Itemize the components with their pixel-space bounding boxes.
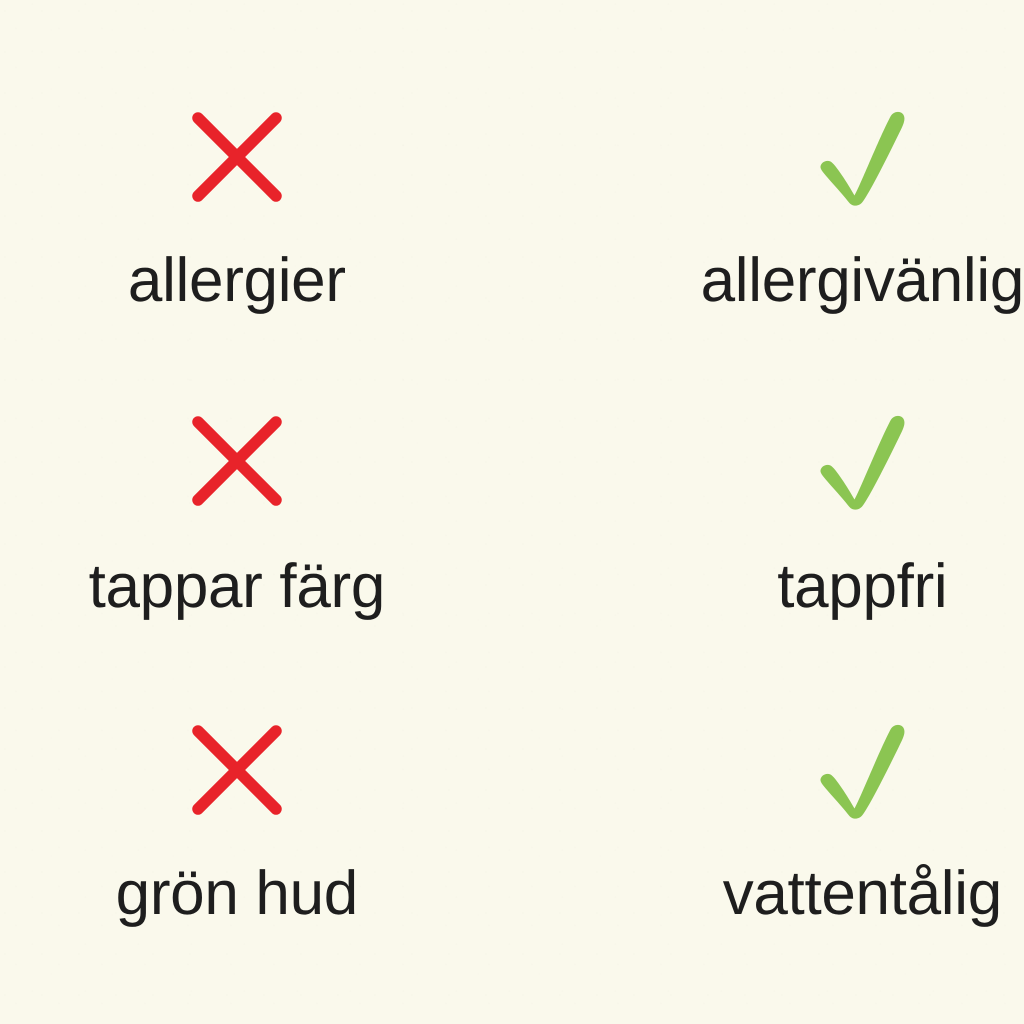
check-icon (810, 404, 914, 516)
comparison-cell-negative-1: allergier (0, 0, 474, 312)
comparison-label: grön hud (116, 863, 358, 925)
comparison-grid: allergier allergivänlig tappar färg (0, 0, 1024, 880)
check-icon (810, 100, 914, 212)
comparison-label: vattentålig (723, 863, 1002, 925)
comparison-cell-positive-2: tappfri (474, 312, 1024, 618)
comparison-infographic: allergier allergivänlig tappar färg (0, 0, 1024, 1024)
comparison-label: tappar färg (89, 556, 385, 618)
cross-icon (185, 713, 289, 825)
comparison-cell-positive-1: allergivänlig (474, 0, 1024, 312)
cross-icon (185, 404, 289, 516)
comparison-label: tappfri (777, 556, 947, 618)
comparison-cell-negative-3: grön hud (0, 618, 474, 925)
comparison-cell-negative-2: tappar färg (0, 312, 474, 618)
comparison-label: allergivänlig (701, 250, 1024, 312)
check-icon (810, 713, 914, 825)
cross-icon (185, 100, 289, 212)
comparison-cell-positive-3: vattentålig (474, 618, 1024, 925)
comparison-label: allergier (128, 250, 346, 312)
